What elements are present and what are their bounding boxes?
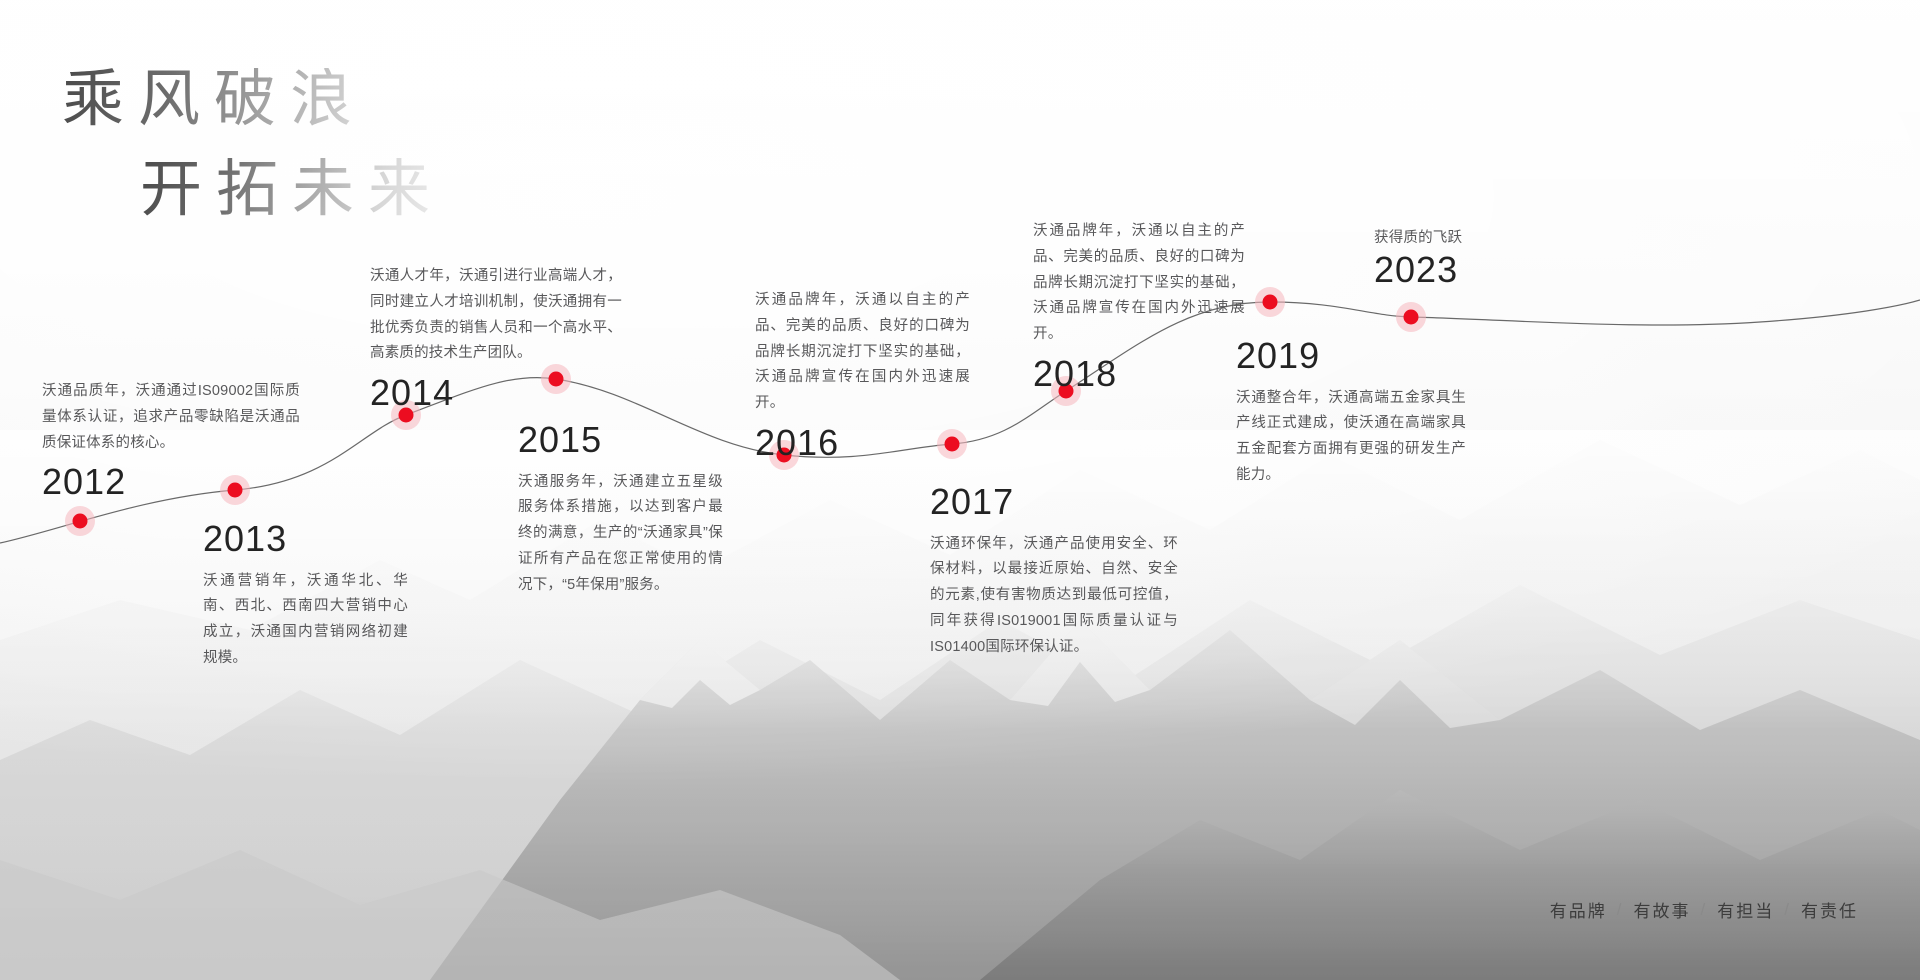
milestone-2012-desc: 沃通品质年，沃通通过IS09002国际质量体系认证，追求产品零缺陷是沃通品质保证… — [42, 379, 300, 456]
milestone-2014-desc: 沃通人才年，沃通引进行业高端人才，同时建立人才培训机制，使沃通拥有一批优秀负责的… — [370, 264, 622, 367]
tagline-item-2: 有担当 — [1717, 897, 1774, 922]
milestone-dot-2012[interactable] — [73, 514, 88, 529]
milestone-dot-2019[interactable] — [1263, 295, 1278, 310]
milestone-2015-year: 2015 — [518, 420, 723, 460]
tagline-separator-2: / — [1784, 900, 1791, 920]
milestone-2018-desc: 沃通品牌年，沃通以自主的产品、完美的品质、良好的口碑为品牌长期沉淀打下坚实的基础… — [1033, 219, 1245, 348]
milestone-2017-desc: 沃通环保年，沃通产品使用安全、环保材料，以最接近原始、自然、安全的元素,使有害物… — [930, 532, 1178, 661]
milestone-2019-desc: 沃通整合年，沃通高端五金家具生产线正式建成，使沃通在高端家具五金配套方面拥有更强… — [1236, 386, 1466, 489]
milestone-2018-year: 2018 — [1033, 354, 1245, 394]
tagline-separator-1: / — [1701, 900, 1708, 920]
milestone-2012[interactable]: 沃通品质年，沃通通过IS09002国际质量体系认证，追求产品零缺陷是沃通品质保证… — [42, 379, 300, 502]
milestone-dot-2023[interactable] — [1404, 310, 1419, 325]
milestone-2013-desc: 沃通营销年，沃通华北、华南、西北、西南四大营销中心成立，沃通国内营销网络初建规模… — [203, 569, 408, 672]
milestone-2014[interactable]: 沃通人才年，沃通引进行业高端人才，同时建立人才培训机制，使沃通拥有一批优秀负责的… — [370, 264, 622, 413]
milestone-2016-desc: 沃通品牌年，沃通以自主的产品、完美的品质、良好的口碑为品牌长期沉淀打下坚实的基础… — [755, 288, 970, 417]
footer-tagline: 有品牌 / 有故事 / 有担当 / 有责任 — [1550, 897, 1858, 922]
milestone-2018[interactable]: 沃通品牌年，沃通以自主的产品、完美的品质、良好的口碑为品牌长期沉淀打下坚实的基础… — [1033, 219, 1245, 394]
milestone-2019[interactable]: 2019 沃通整合年，沃通高端五金家具生产线正式建成，使沃通在高端家具五金配套方… — [1236, 336, 1466, 489]
tagline-separator-0: / — [1617, 900, 1624, 920]
tagline-item-1: 有故事 — [1634, 897, 1691, 922]
milestone-2014-year: 2014 — [370, 373, 622, 413]
milestone-2019-year: 2019 — [1236, 336, 1466, 376]
milestone-2013[interactable]: 2013 沃通营销年，沃通华北、华南、西北、西南四大营销中心成立，沃通国内营销网… — [203, 519, 408, 672]
milestone-2017-year: 2017 — [930, 482, 1178, 522]
milestone-2013-year: 2013 — [203, 519, 408, 559]
top-note: 获得质的飞跃 — [1374, 226, 1462, 252]
milestone-2016[interactable]: 沃通品牌年，沃通以自主的产品、完美的品质、良好的口碑为品牌长期沉淀打下坚实的基础… — [755, 288, 970, 463]
tagline-item-0: 有品牌 — [1550, 897, 1607, 922]
milestone-2015[interactable]: 2015 沃通服务年，沃通建立五星级服务体系措施，以达到客户最终的满意，生产的“… — [518, 420, 723, 599]
milestone-2012-year: 2012 — [42, 462, 300, 502]
milestone-2016-year: 2016 — [755, 423, 970, 463]
timeline-poster: 乘风破浪 开拓未来 沃通品质年，沃通通过IS09002国际质量体系认证，追求产品… — [0, 0, 1920, 980]
milestone-2015-desc: 沃通服务年，沃通建立五星级服务体系措施，以达到客户最终的满意，生产的“沃通家具”… — [518, 470, 723, 599]
milestone-2017[interactable]: 2017 沃通环保年，沃通产品使用安全、环保材料，以最接近原始、自然、安全的元素… — [930, 482, 1178, 661]
milestone-2023-year: 2023 — [1374, 250, 1494, 290]
milestone-2023[interactable]: 2023 — [1374, 250, 1494, 290]
tagline-item-3: 有责任 — [1801, 897, 1858, 922]
